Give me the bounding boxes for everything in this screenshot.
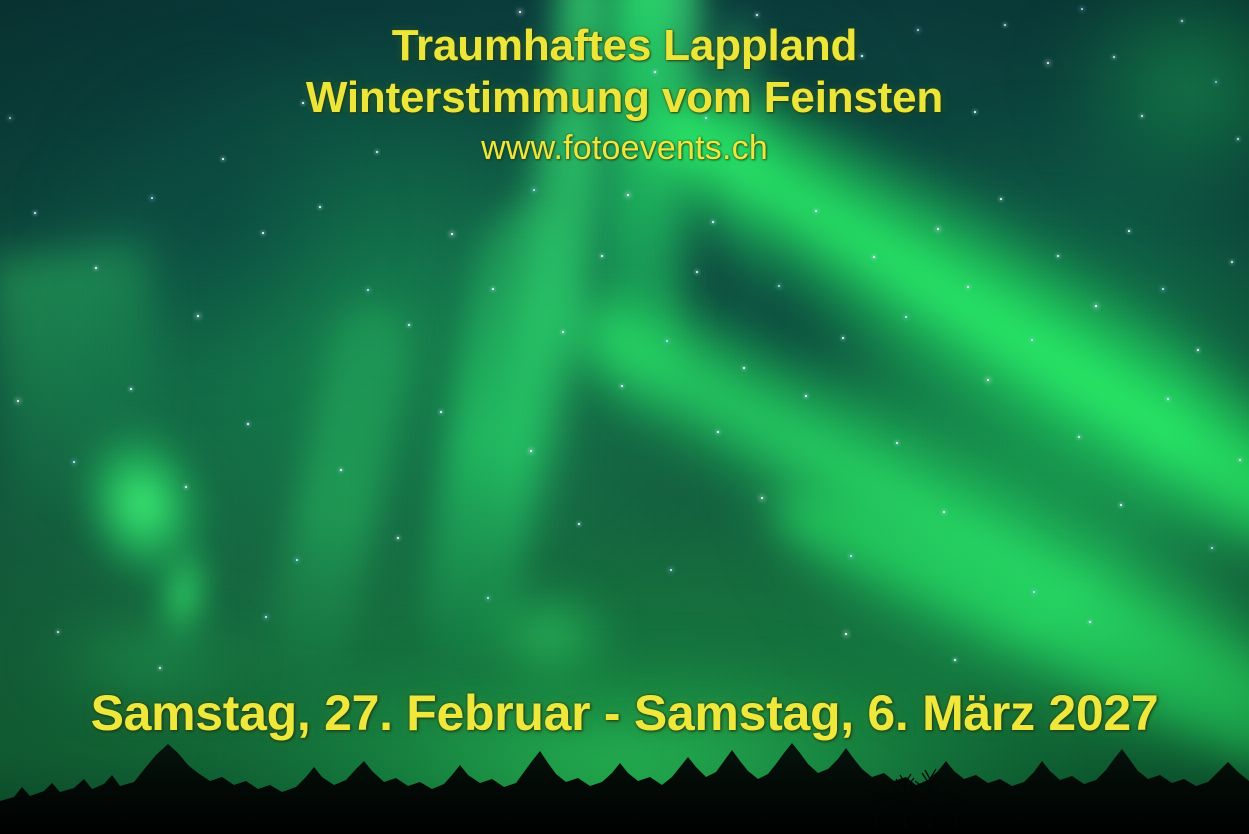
aurora-poster: Traumhaftes Lappland Winterstimmung vom … [0, 0, 1249, 834]
poster-date-block: Samstag, 27. Februar - Samstag, 6. März … [0, 684, 1249, 742]
forest-treeline-silhouette [0, 739, 1249, 834]
headline-line-1: Traumhaftes Lappland [0, 20, 1249, 72]
headline-line-2: Winterstimmung vom Feinsten [0, 72, 1249, 124]
poster-headline-block: Traumhaftes Lappland Winterstimmung vom … [0, 20, 1249, 168]
event-date-range: Samstag, 27. Februar - Samstag, 6. März … [91, 684, 1159, 742]
website-url[interactable]: www.fotoevents.ch [0, 128, 1249, 168]
